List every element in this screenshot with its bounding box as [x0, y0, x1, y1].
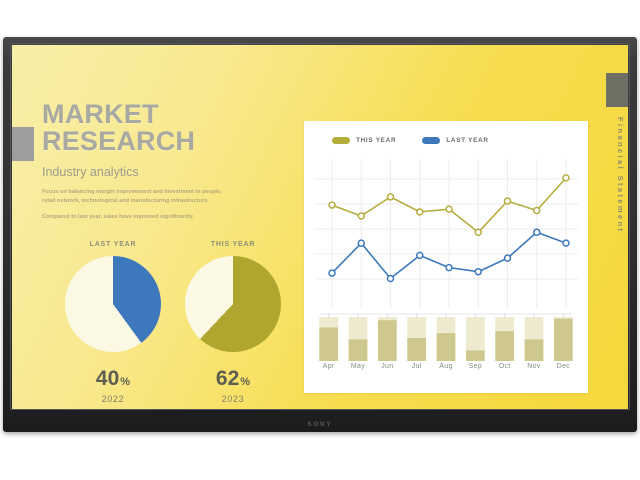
legend-label-last-year: LAST YEAR [446, 137, 488, 144]
percent-symbol: % [240, 376, 250, 388]
x-axis-label-may: May [343, 363, 372, 370]
pie-caption-this-year: THIS YEAR [174, 241, 292, 248]
chart-legend: THIS YEAR LAST YEAR [332, 137, 489, 144]
x-axis-label-oct: Oct [490, 363, 519, 370]
body-paragraph-1: Focus on balancing margin improvement an… [42, 188, 232, 206]
pie-percent-value-last-year: 40 [96, 367, 119, 390]
pie-card-last-year: LAST YEAR 40% 2022 [54, 241, 172, 404]
legend-swatch-last-year [422, 137, 440, 144]
x-axis-label-jun: Jun [373, 363, 402, 370]
side-label-financial-statement: Financial Statement [616, 117, 625, 233]
x-axis-label-dec: Dec [549, 363, 578, 370]
x-axis-labels: AprMayJunJulAugSepOctNovDec [314, 363, 578, 370]
percent-symbol: % [120, 376, 130, 388]
x-axis-label-sep: Sep [461, 363, 490, 370]
body-paragraph-2: Compared to last year, sales have improv… [42, 213, 232, 222]
legend-item-last-year: LAST YEAR [422, 137, 488, 144]
x-axis-label-aug: Aug [431, 363, 460, 370]
pie-chart-this-year [185, 256, 281, 352]
pie-percent-this-year: 62% [174, 368, 292, 389]
page-subtitle: Industry analytics [42, 165, 302, 179]
chart-panel: THIS YEAR LAST YEAR AprMayJunJulAugSepOc… [304, 121, 588, 393]
x-axis-label-apr: Apr [314, 363, 343, 370]
pie-chart-last-year [65, 256, 161, 352]
legend-item-this-year: THIS YEAR [332, 137, 396, 144]
legend-swatch-this-year [332, 137, 350, 144]
brand-logo: SONY [307, 422, 332, 428]
decorative-tab-left [12, 127, 34, 161]
bar-chart-strip [314, 313, 578, 361]
screen-content: Financial Statement MARKET RESEARCH Indu… [12, 45, 628, 409]
x-axis-label-jul: Jul [402, 363, 431, 370]
slide-text-block: MARKET RESEARCH Industry analytics Focus… [42, 101, 302, 230]
page-title: MARKET RESEARCH [42, 101, 302, 155]
pie-caption-last-year: LAST YEAR [54, 241, 172, 248]
display-monitor: SONY Financial Statement MARKET RESEARCH… [3, 37, 637, 432]
pie-percent-last-year: 40% [54, 368, 172, 389]
pie-percent-value-this-year: 62 [216, 367, 239, 390]
legend-label-this-year: THIS YEAR [356, 137, 396, 144]
line-chart-plot [314, 159, 578, 309]
x-axis-label-nov: Nov [519, 363, 548, 370]
pie-year-last-year: 2022 [54, 394, 172, 404]
pie-year-this-year: 2023 [174, 394, 292, 404]
pie-card-this-year: THIS YEAR 62% 2023 [174, 241, 292, 404]
pie-chart-group: LAST YEAR 40% 2022 THIS YEAR 62% 2023 [42, 241, 304, 409]
decorative-tab-right [606, 73, 628, 107]
